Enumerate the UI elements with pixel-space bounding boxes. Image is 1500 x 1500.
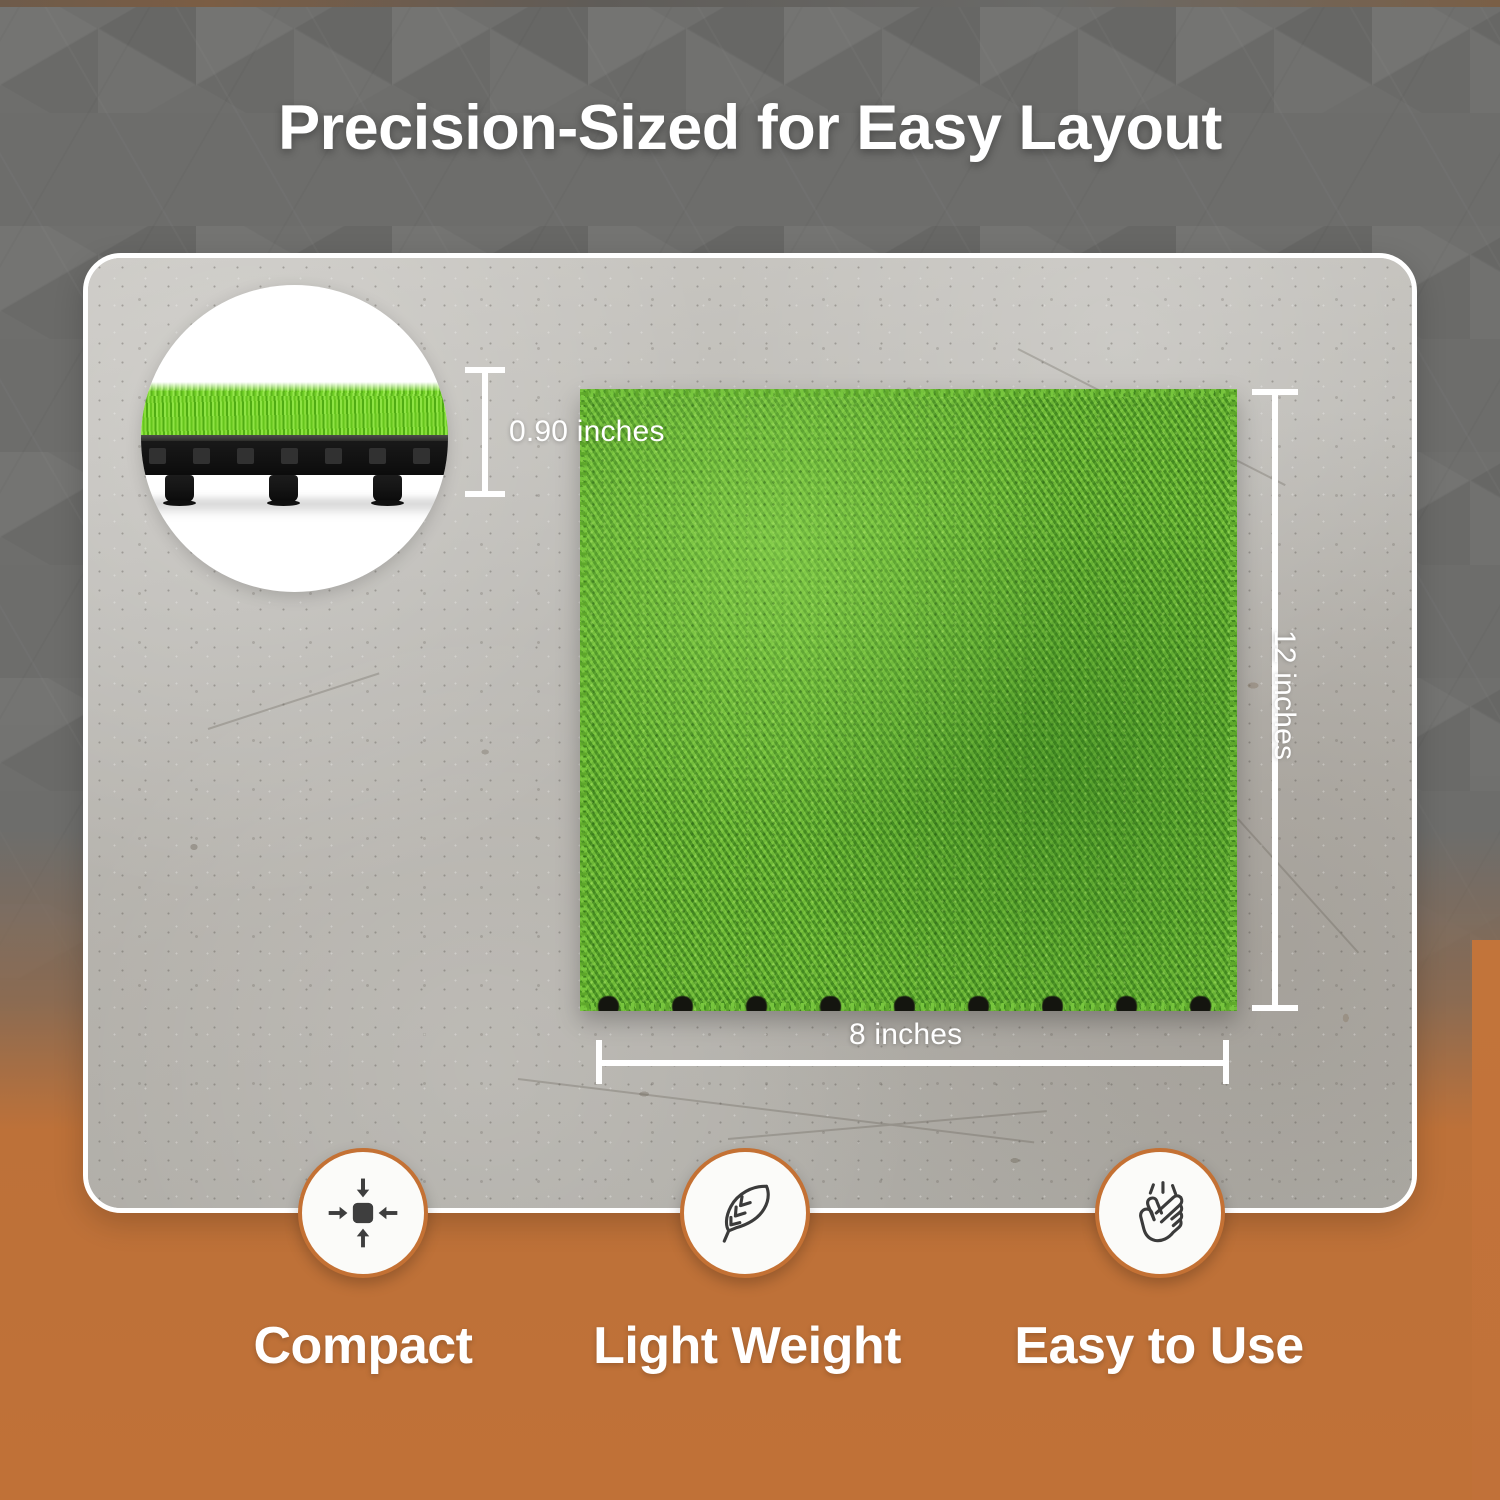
compress-arrows-icon [324, 1174, 402, 1252]
infographic-stage: Precision-Sized for Easy Layout [0, 0, 1500, 1500]
feather-icon [708, 1176, 782, 1250]
product-photo-card: 0.90 inches 12 inches 8 inches [83, 253, 1417, 1213]
tap-hand-icon [1123, 1176, 1197, 1250]
top-edge-strip [0, 0, 1500, 7]
interlocking-tabs [580, 992, 1237, 1011]
inset-base-peg [373, 475, 402, 502]
turf-surface [580, 389, 1237, 1011]
inset-drop-shadow [141, 499, 448, 517]
feature-badge-row: Compact Light Weight [0, 1148, 1500, 1500]
inset-plastic-base [141, 441, 448, 475]
inset-base-peg [165, 475, 194, 502]
dimension-thickness-label: 0.90 inches [509, 415, 665, 449]
feature-badge-compact[interactable] [298, 1148, 428, 1278]
inset-base-peg [269, 475, 298, 502]
feature-label-easy-to-use: Easy to Use [1014, 1316, 1303, 1376]
feature-badge-light-weight[interactable] [680, 1148, 810, 1278]
feature-label-compact: Compact [254, 1316, 473, 1376]
artificial-grass-tile [580, 389, 1237, 1011]
dimension-height-label: 12 inches [1267, 630, 1301, 760]
feature-label-light-weight: Light Weight [593, 1316, 901, 1376]
dimension-width-label: 8 inches [849, 1018, 962, 1052]
side-profile-inset-circle [141, 285, 448, 592]
page-title: Precision-Sized for Easy Layout [0, 92, 1500, 164]
feature-badge-easy-to-use[interactable] [1095, 1148, 1225, 1278]
inset-turf-layer [141, 391, 448, 439]
